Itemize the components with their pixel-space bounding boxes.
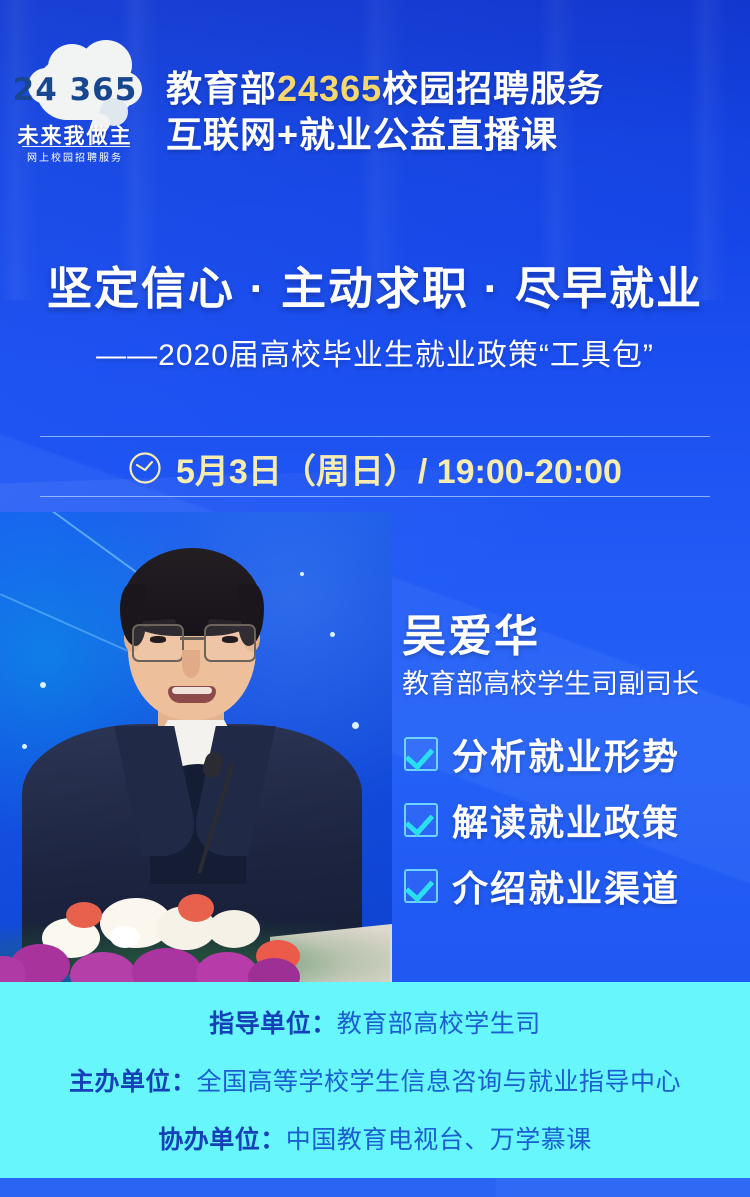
date-divider-top [40, 436, 710, 437]
poster-root: 24 365 未来我做主 网上校园招聘服务 教育部24365校园招聘服务 互联网… [0, 0, 750, 1197]
footer-row: 主办单位：全国高等学校学生信息咨询与就业指导中心 [69, 1062, 681, 1098]
logo-number: 24 365 [0, 72, 150, 108]
bottom-bar [0, 1178, 750, 1197]
logo-divider [22, 146, 130, 147]
footer-label: 指导单位： [209, 1010, 337, 1038]
header-line1-highlight: 24365 [277, 68, 382, 109]
brand-logo-24365: 24 365 未来我做主 网上校园招聘服务 [0, 42, 160, 182]
speaker-title: 教育部高校学生司副司长 [402, 662, 699, 701]
header-text-block: 教育部24365校园招聘服务 互联网+就业公益直播课 [160, 66, 750, 158]
logo-subslogan: 网上校园招聘服务 [0, 149, 150, 164]
footer-label: 协办单位： [158, 1126, 286, 1154]
datetime-text: 5月3日（周日）/ 19:00-20:00 [176, 444, 622, 493]
check-icon [404, 803, 438, 837]
speaker-photo [0, 512, 392, 990]
datetime-row: 5月3日（周日）/ 19:00-20:00 [0, 440, 750, 496]
header: 24 365 未来我做主 网上校园招聘服务 教育部24365校园招聘服务 互联网… [0, 42, 750, 182]
speaker-name: 吴爱华 [402, 600, 540, 664]
footer-row: 指导单位：教育部高校学生司 [209, 1004, 541, 1040]
footer-organizers: 指导单位：教育部高校学生司 主办单位：全国高等学校学生信息咨询与就业指导中心 协… [0, 982, 750, 1178]
footer-value: 全国高等学校学生信息咨询与就业指导中心 [197, 1068, 682, 1096]
date-divider-bottom [40, 496, 710, 497]
header-line1-prefix: 教育部 [166, 68, 277, 109]
page-subtitle: ——2020届高校毕业生就业政策“工具包” [0, 330, 750, 374]
podium-flowers [0, 892, 392, 990]
footer-value: 教育部高校学生司 [337, 1010, 541, 1038]
topic-label: 介绍就业渠道 [452, 860, 680, 912]
topic-label: 解读就业政策 [452, 794, 680, 846]
check-icon [404, 737, 438, 771]
topic-item: 分析就业形势 [404, 728, 750, 780]
page-title: 坚定信心 · 主动求职 · 尽早就业 [0, 252, 750, 317]
topic-item: 介绍就业渠道 [404, 860, 750, 912]
footer-value: 中国教育电视台、万学慕课 [286, 1126, 592, 1154]
header-line-2: 互联网+就业公益直播课 [166, 112, 750, 158]
header-line-1: 教育部24365校园招聘服务 [166, 66, 750, 112]
topic-label: 分析就业形势 [452, 728, 680, 780]
footer-label: 主办单位： [69, 1068, 197, 1096]
clock-icon [128, 451, 162, 485]
check-icon [404, 869, 438, 903]
topic-item: 解读就业政策 [404, 794, 750, 846]
header-line1-suffix: 校园招聘服务 [382, 68, 604, 109]
footer-row: 协办单位：中国教育电视台、万学慕课 [158, 1120, 592, 1156]
topic-list: 分析就业形势 解读就业政策 介绍就业渠道 [404, 728, 750, 926]
